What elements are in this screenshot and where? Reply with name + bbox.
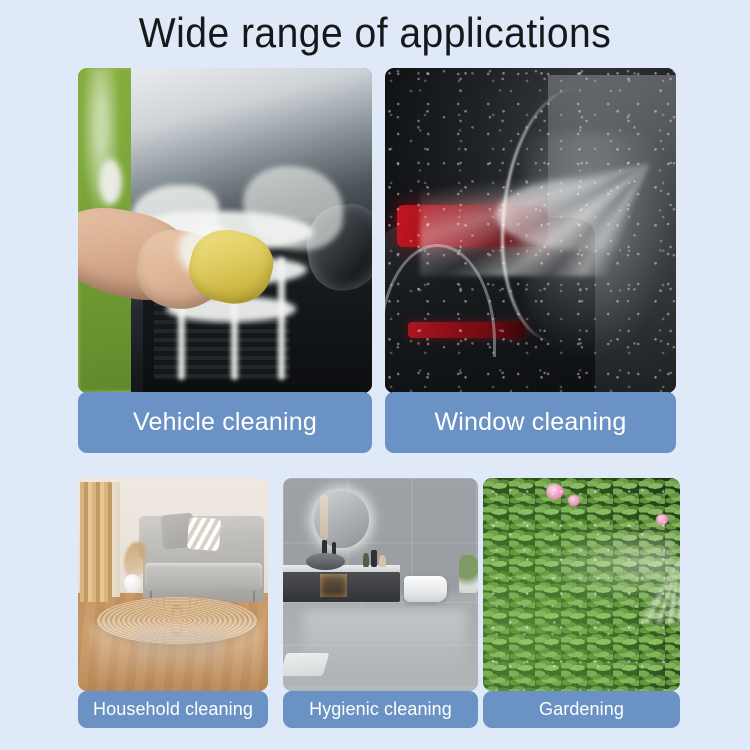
caption-household-cleaning: Household cleaning [78, 691, 268, 728]
caption-vehicle-cleaning: Vehicle cleaning [78, 392, 372, 453]
caption-label: Hygienic cleaning [309, 699, 452, 720]
page-title: Wide range of applications [26, 8, 724, 58]
card-window-cleaning[interactable]: Window cleaning [385, 68, 676, 453]
caption-label: Vehicle cleaning [133, 408, 317, 437]
card-household-cleaning[interactable]: Household cleaning [78, 478, 268, 728]
caption-gardening: Gardening [483, 691, 680, 728]
caption-window-cleaning: Window cleaning [385, 392, 676, 453]
hygienic-cleaning-photo [283, 478, 478, 691]
application-showcase-page: Wide range of applications [0, 0, 750, 750]
vehicle-cleaning-photo [78, 68, 372, 393]
window-cleaning-photo [385, 68, 676, 393]
caption-label: Gardening [539, 699, 624, 720]
card-vehicle-cleaning[interactable]: Vehicle cleaning [78, 68, 372, 453]
caption-hygienic-cleaning: Hygienic cleaning [283, 691, 478, 728]
card-gardening[interactable]: Gardening [483, 478, 680, 728]
gardening-photo [483, 478, 680, 691]
caption-label: Household cleaning [93, 699, 253, 720]
caption-label: Window cleaning [435, 408, 627, 437]
household-cleaning-photo [78, 478, 268, 691]
card-hygienic-cleaning[interactable]: Hygienic cleaning [283, 478, 478, 728]
